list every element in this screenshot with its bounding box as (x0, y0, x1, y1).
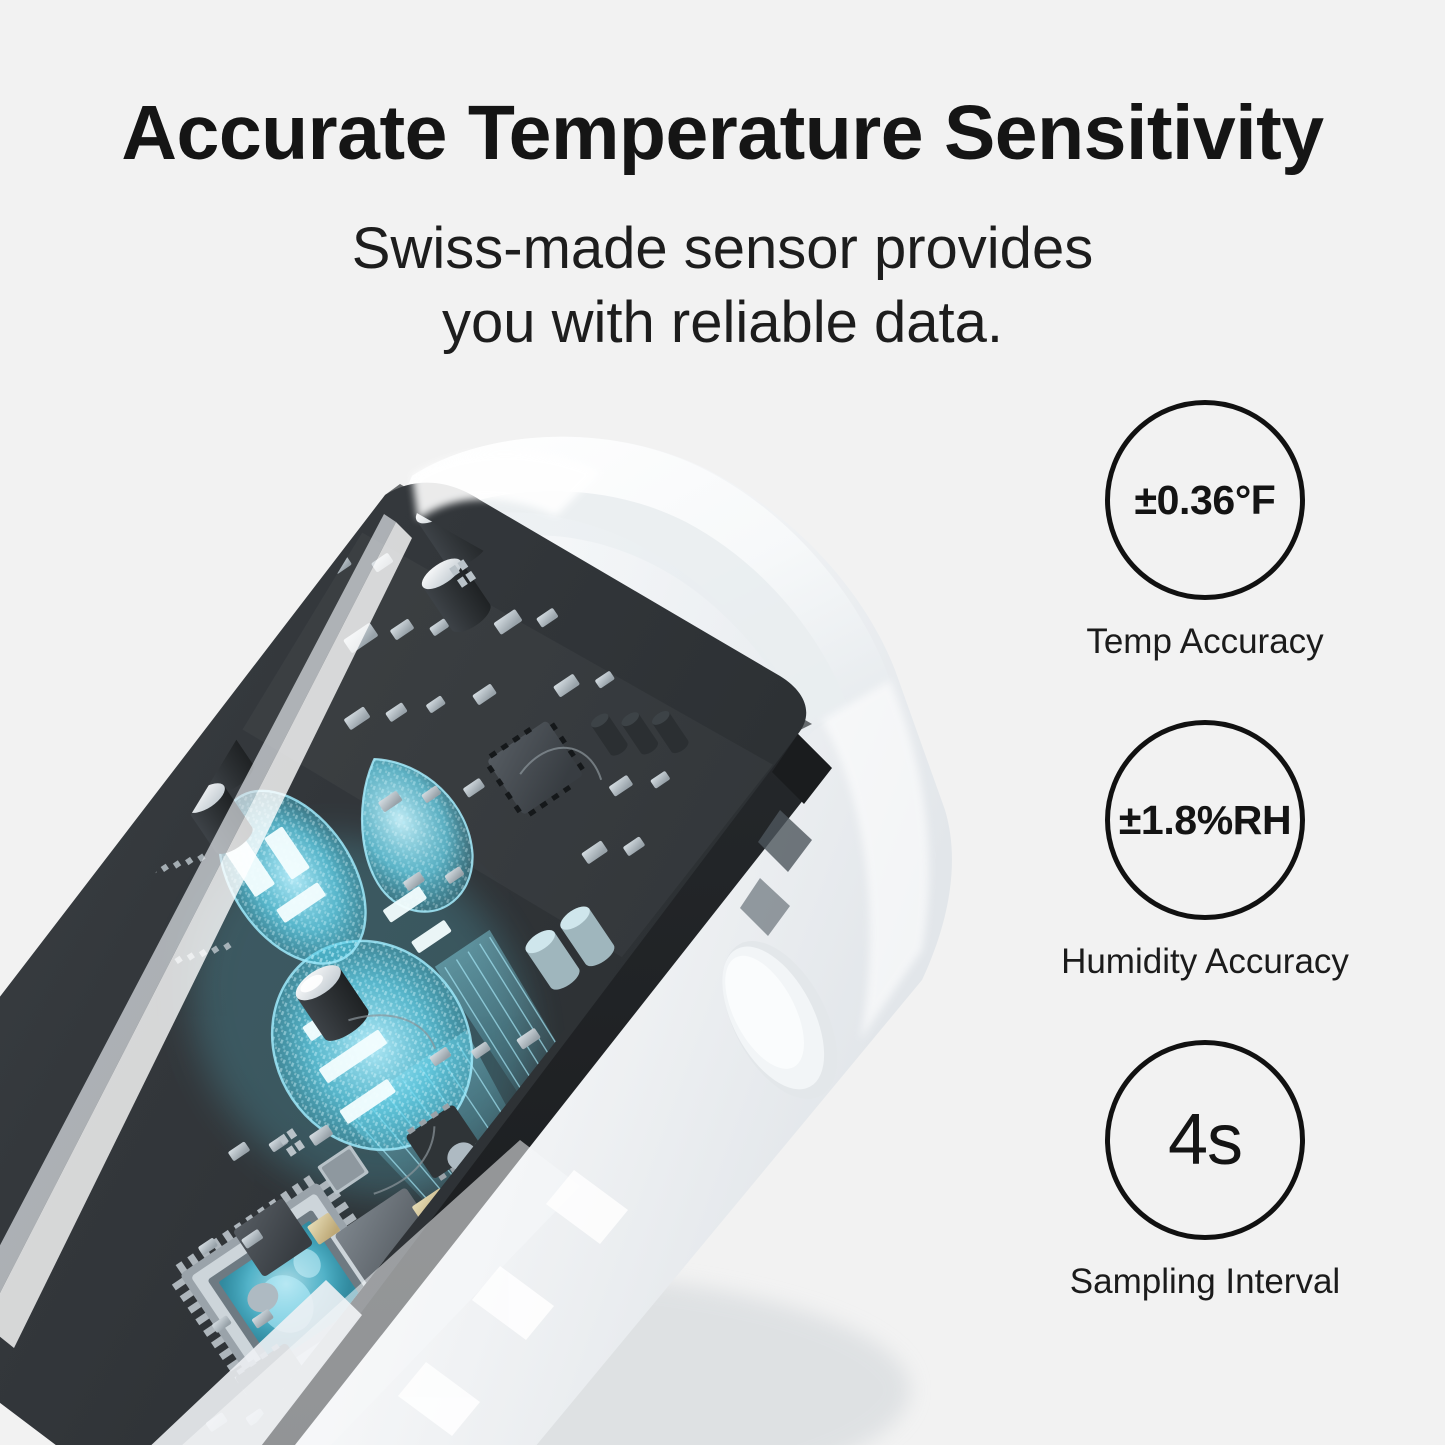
spec-value-sampling-interval: 4s (1168, 1099, 1242, 1181)
spec-label-humidity-accuracy: Humidity Accuracy (1040, 942, 1370, 982)
spec-label-sampling-interval: Sampling Interval (1040, 1262, 1370, 1302)
circle-outline-icon: ±1.8%RH (1105, 720, 1305, 920)
page-subtitle: Swiss-made sensor provides you with reli… (0, 212, 1445, 360)
product-feature-card: Accurate Temperature Sensitivity Swiss-m… (0, 0, 1445, 1445)
spec-value-humidity-accuracy: ±1.8%RH (1119, 797, 1291, 844)
spec-label-temp-accuracy: Temp Accuracy (1040, 622, 1370, 662)
subtitle-line-2: you with reliable data. (0, 286, 1445, 360)
spec-badge-sampling-interval: 4s Sampling Interval (1040, 1040, 1370, 1302)
circle-outline-icon: ±0.36°F (1105, 400, 1305, 600)
page-title: Accurate Temperature Sensitivity (0, 95, 1445, 172)
circle-outline-icon: 4s (1105, 1040, 1305, 1240)
spec-badge-temp-accuracy: ±0.36°F Temp Accuracy (1040, 400, 1370, 662)
product-image (0, 380, 980, 1445)
spec-value-temp-accuracy: ±0.36°F (1135, 477, 1276, 524)
spec-badge-humidity-accuracy: ±1.8%RH Humidity Accuracy (1040, 720, 1370, 982)
subtitle-line-1: Swiss-made sensor provides (352, 216, 1093, 281)
